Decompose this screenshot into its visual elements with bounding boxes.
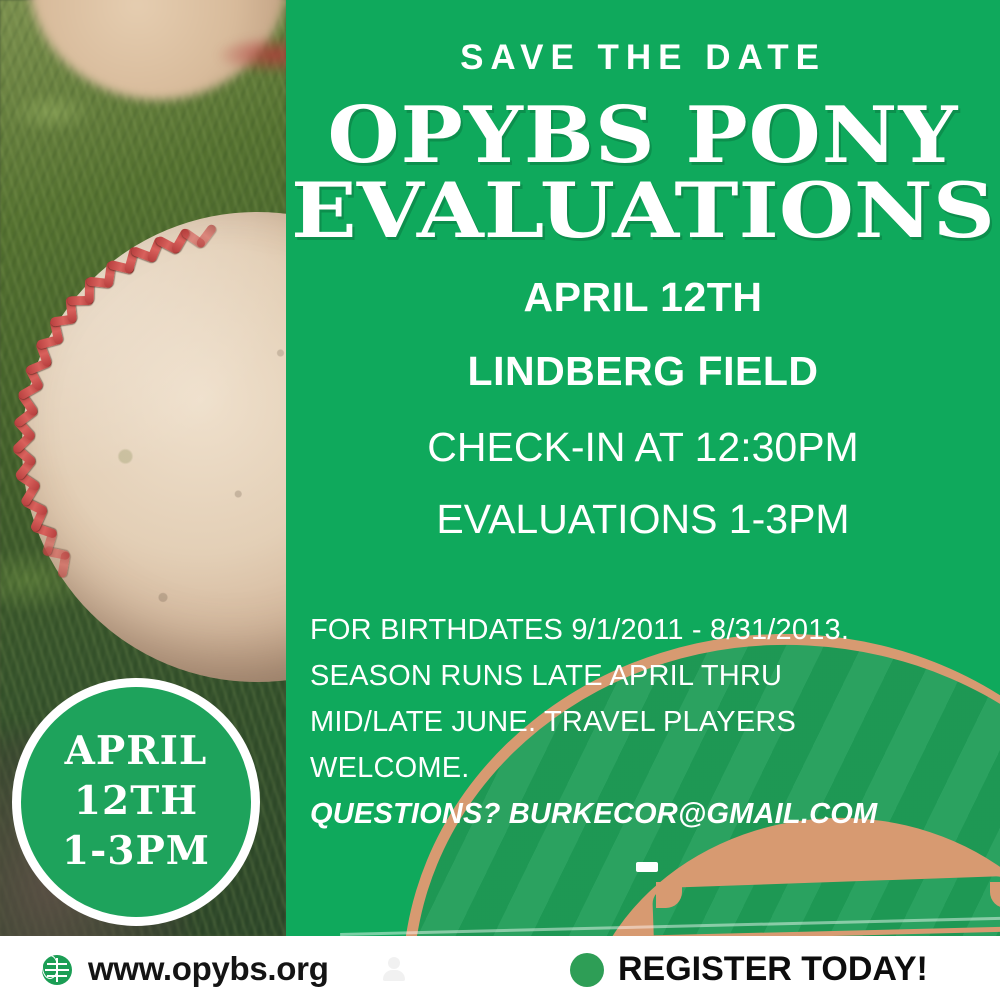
details-line-2: SEASON RUNS LATE APRIL THRU: [310, 662, 980, 691]
event-checkin-time: CHECK-IN AT 12:30PM: [286, 424, 1000, 471]
event-evaluation-time: EVALUATIONS 1-3PM: [286, 496, 1000, 543]
contact-email-line[interactable]: QUESTIONS? BURKECOR@GMAIL.COM: [310, 800, 980, 829]
details-line-1: FOR BIRTHDATES 9/1/2011 - 8/31/2013.: [310, 616, 980, 645]
page-title: OPYBS PONY EVALUATIONS: [286, 98, 1000, 249]
title-line-1: OPYBS PONY: [286, 98, 1000, 174]
event-date: APRIL 12TH: [286, 274, 1000, 321]
green-content-panel: SAVE THE DATE OPYBS PONY EVALUATIONS APR…: [286, 0, 1000, 936]
details-line-3: MID/LATE JUNE. TRAVEL PLAYERS: [310, 708, 980, 737]
register-cta[interactable]: REGISTER TODAY!: [618, 950, 928, 989]
website-url[interactable]: www.opybs.org: [88, 950, 388, 988]
badge-line-3: 1-3PM: [62, 827, 210, 877]
green-circle-bullet-icon: [570, 953, 604, 987]
poster-text-stack: SAVE THE DATE OPYBS PONY EVALUATIONS APR…: [286, 0, 1000, 936]
event-venue: LINDBERG FIELD: [286, 348, 1000, 395]
person-icon: [383, 957, 405, 981]
baseball-photo-panel: APRIL 12TH 1-3PM: [0, 0, 286, 936]
poster-root: APRIL 12TH 1-3PM SAV: [0, 0, 1000, 1000]
date-badge: APRIL 12TH 1-3PM: [12, 678, 260, 926]
badge-line-2: 12TH: [74, 777, 198, 827]
details-paragraph: FOR BIRTHDATES 9/1/2011 - 8/31/2013. SEA…: [310, 616, 980, 846]
eyebrow-text: SAVE THE DATE: [286, 38, 1000, 78]
globe-icon: [42, 955, 72, 985]
details-line-4: WELCOME.: [310, 754, 980, 783]
badge-line-1: APRIL: [65, 727, 208, 777]
title-line-2: EVALUATIONS: [286, 174, 1000, 248]
